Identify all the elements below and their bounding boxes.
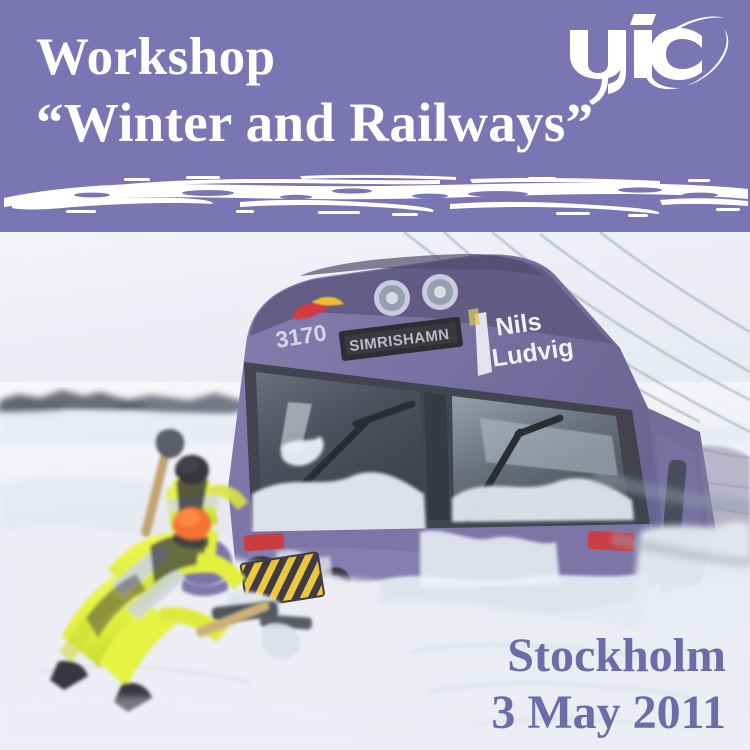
event-city: Stockholm xyxy=(491,628,726,684)
poster-root: 3170 SIMRISHAMN Nils Ludvig xyxy=(0,0,750,750)
brush-stroke-shape xyxy=(0,174,750,220)
snowbound-train-photo: 3170 SIMRISHAMN Nils Ludvig xyxy=(0,232,750,750)
uic-logo xyxy=(562,12,732,112)
uic-logo-mark xyxy=(562,12,732,112)
event-location-date: Stockholm 3 May 2011 xyxy=(491,628,726,742)
white-brush-stroke xyxy=(0,174,750,220)
header-band: Workshop “Winter and Railways” xyxy=(0,0,750,232)
event-date: 3 May 2011 xyxy=(491,684,726,742)
